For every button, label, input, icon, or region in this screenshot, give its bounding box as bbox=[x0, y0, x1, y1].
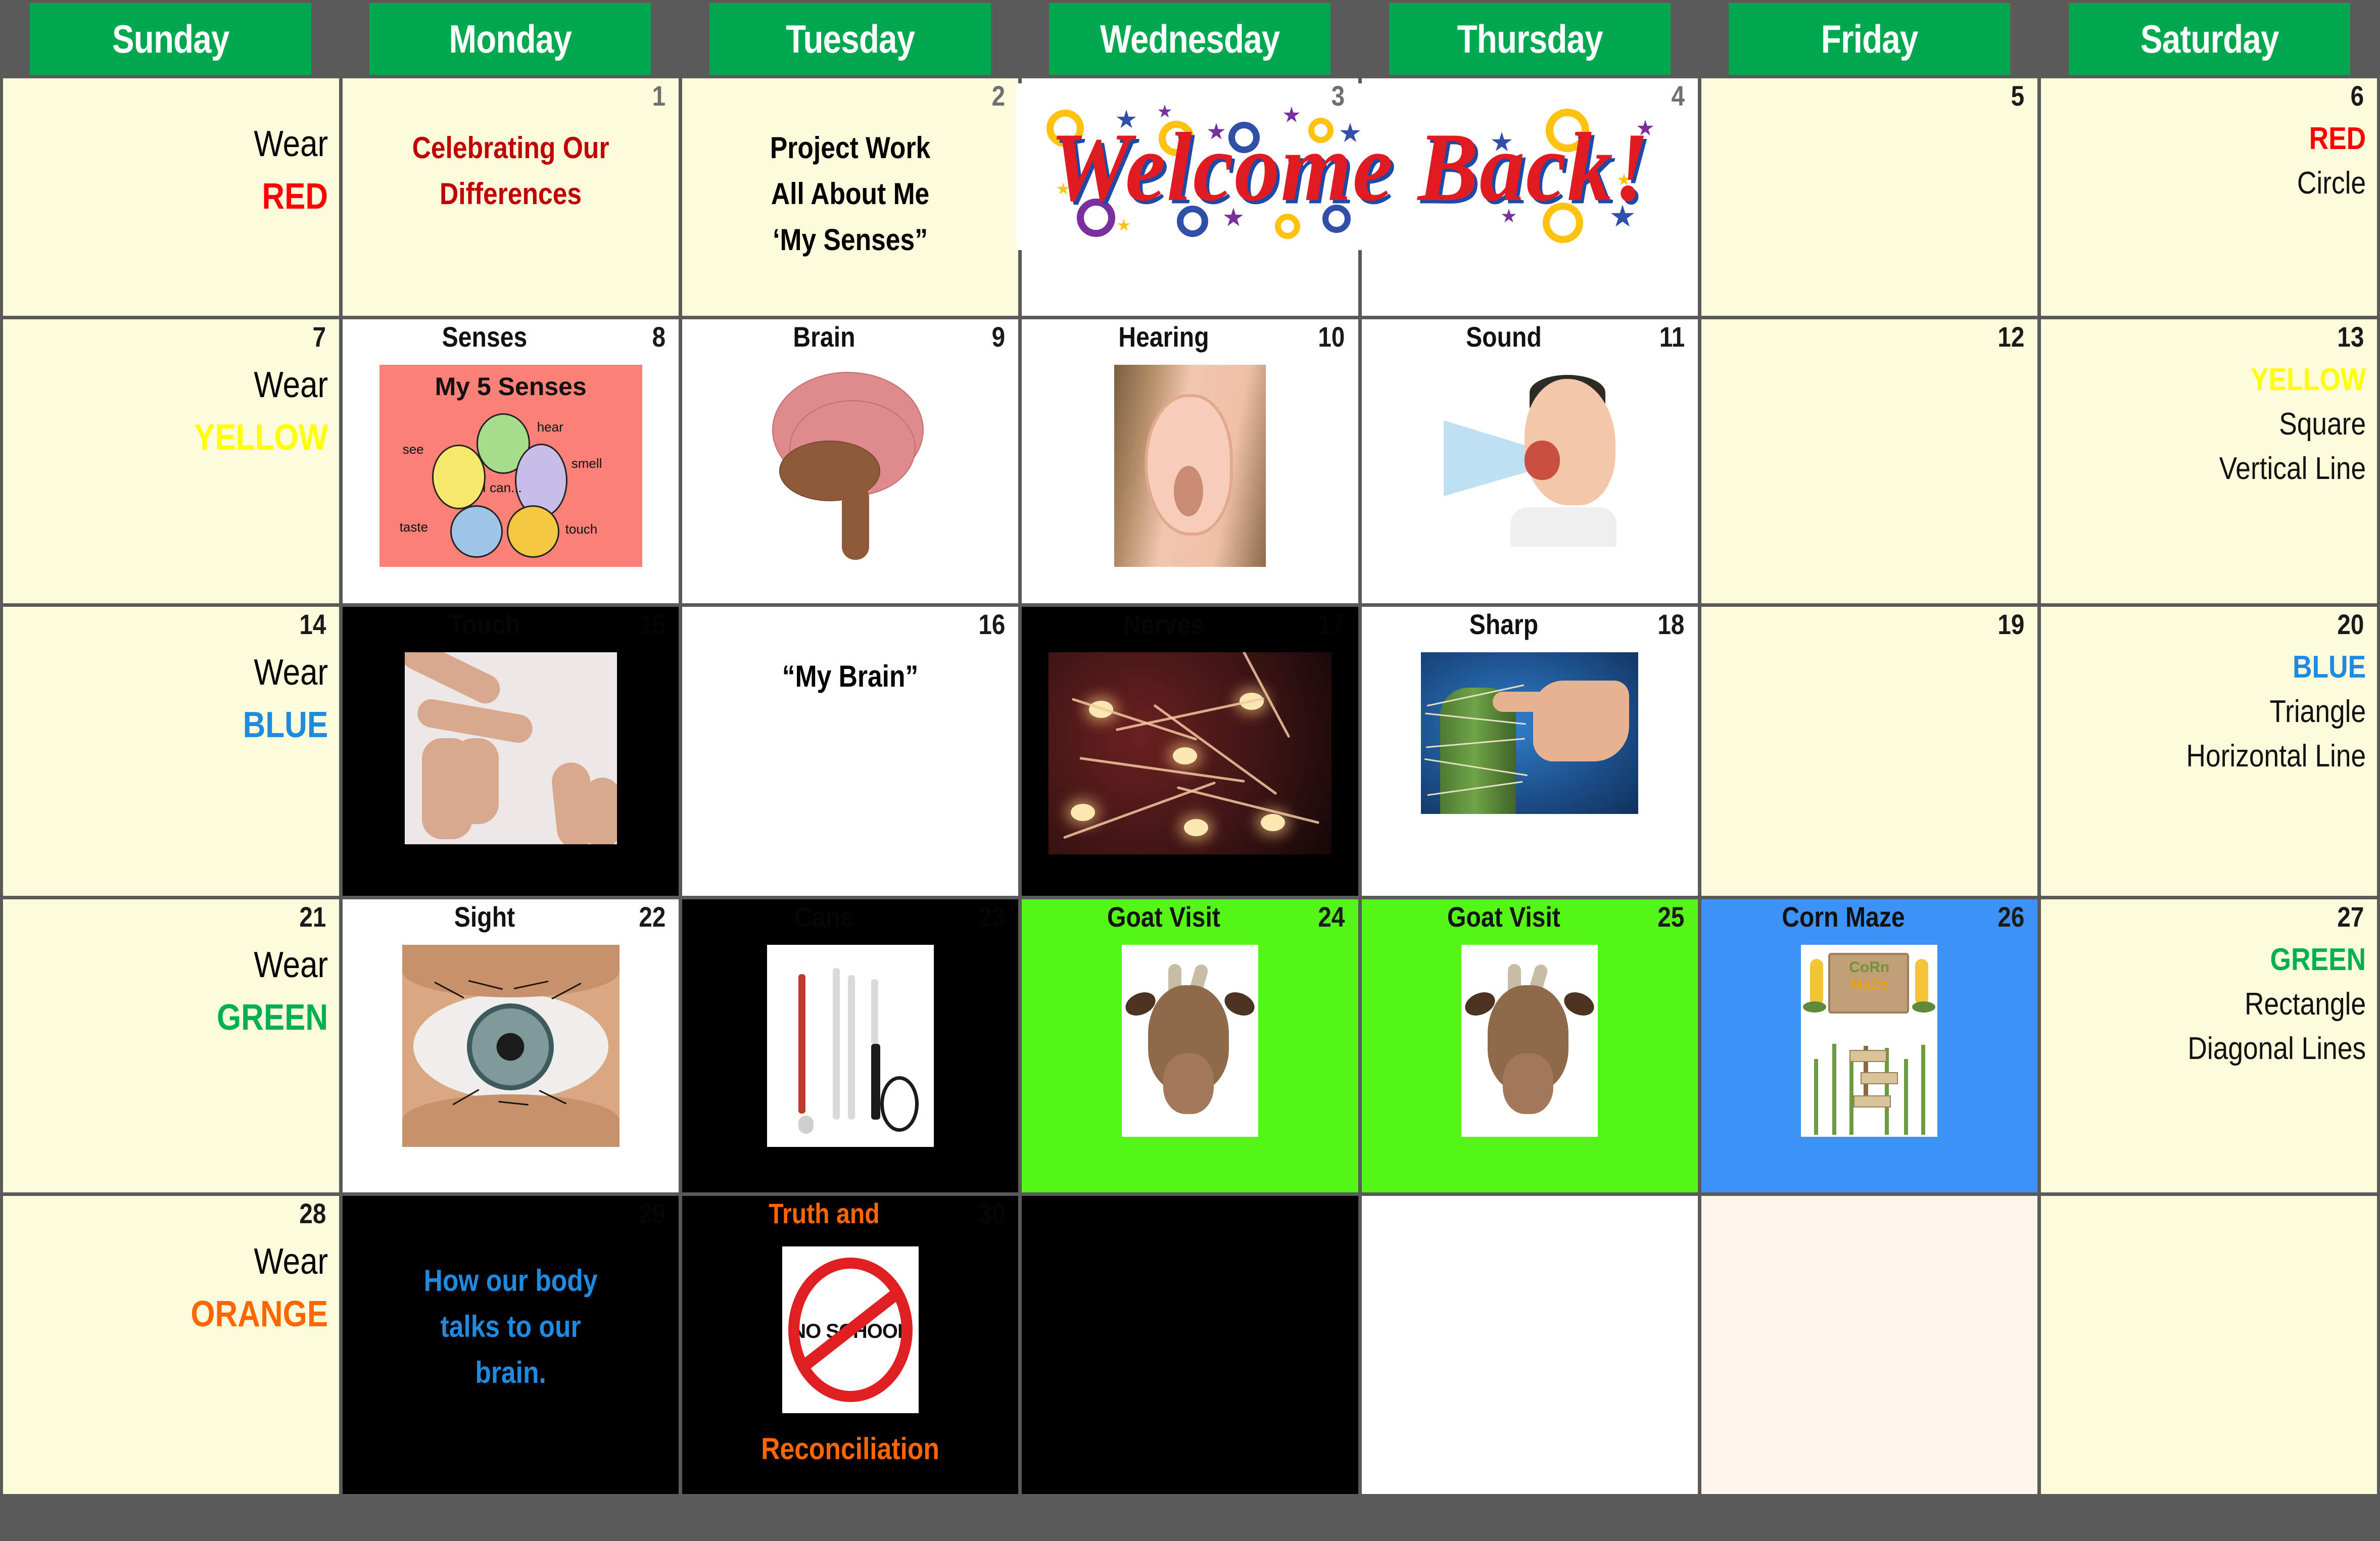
event-line: “My Brain” bbox=[716, 653, 985, 699]
white-cane-image bbox=[767, 945, 934, 1147]
goat-ear bbox=[1560, 988, 1598, 1020]
ear-art bbox=[1114, 365, 1266, 567]
day-number: 4 bbox=[1671, 81, 1684, 111]
senses-poster-heading: My 5 Senses bbox=[379, 372, 642, 401]
week-row-5: 28 Wear ORANGE 29 How our body talks to … bbox=[0, 1196, 2380, 1494]
direction-arrow-icon bbox=[1861, 1072, 1898, 1084]
see-circle-icon bbox=[432, 445, 486, 509]
day-number: 23 bbox=[978, 902, 1005, 932]
day-header-tuesday: Tuesday bbox=[709, 3, 991, 75]
cell-title: Touch bbox=[366, 610, 655, 640]
day-cell-19[interactable]: 19 bbox=[1701, 607, 2037, 896]
brain-art bbox=[767, 365, 934, 567]
day-of-week-header: Sunday Monday Tuesday Wednesday Thursday… bbox=[0, 0, 2380, 75]
corn-stalk bbox=[1921, 1045, 1925, 1135]
day-cell-6[interactable]: 6 RED Circle bbox=[2041, 78, 2377, 316]
corn-stalk bbox=[1832, 1044, 1836, 1135]
day-number: 22 bbox=[639, 902, 665, 932]
hand bbox=[1533, 681, 1629, 761]
corn-stalk bbox=[1814, 1059, 1818, 1135]
cell-title: Sound bbox=[1385, 322, 1674, 352]
brain-stem bbox=[842, 484, 869, 560]
senses-poster-art: My 5 Senses see hear smell I can... tast… bbox=[379, 365, 642, 567]
week-row-4: 21 Wear GREEN Sight 22 bbox=[0, 899, 2380, 1192]
cane-grip bbox=[871, 1044, 880, 1120]
shirt bbox=[1510, 507, 1616, 547]
cane-wrist-strap bbox=[880, 1076, 919, 1132]
day-cell-27[interactable]: 27 GREEN Rectangle Diagonal Lines bbox=[2041, 899, 2377, 1192]
wear-label: Wear bbox=[58, 646, 328, 699]
day-number: 2 bbox=[992, 81, 1005, 111]
white-cane-art bbox=[767, 945, 934, 1147]
wear-color-label: RED bbox=[58, 170, 328, 223]
wear-label: Wear bbox=[58, 1235, 328, 1288]
day-number: 16 bbox=[978, 610, 1005, 640]
day-cell-25[interactable]: Goat Visit 25 bbox=[1362, 899, 1698, 1192]
cell-title: Sight bbox=[366, 902, 655, 932]
neuron-fiber bbox=[1079, 757, 1245, 783]
cell-text: “My Brain” bbox=[716, 653, 985, 699]
day-cell-13[interactable]: 13 YELLOW Square Vertical Line bbox=[2041, 319, 2377, 603]
goat-muzzle bbox=[1163, 1053, 1214, 1114]
day-cell-17[interactable]: Nerves 17 bbox=[1022, 607, 1358, 896]
ear-image bbox=[1114, 365, 1266, 567]
day-cell-26[interactable]: Corn Maze 26 CoRn MaZe bbox=[1701, 899, 2037, 1192]
finger bbox=[453, 738, 499, 824]
hands-touching-art bbox=[405, 652, 617, 844]
corn-maze-art: CoRn MaZe bbox=[1801, 945, 1937, 1137]
day-header-friday: Friday bbox=[1729, 3, 2010, 75]
shape-color-label: RED bbox=[2096, 117, 2366, 161]
sound-wave-icon bbox=[1444, 420, 1533, 496]
day-cell-wear-red[interactable]: Wear RED bbox=[3, 78, 339, 316]
day-cell-24[interactable]: Goat Visit 24 bbox=[1022, 899, 1358, 1192]
shape-name: Horizontal Line bbox=[2096, 734, 2366, 779]
day-number: 25 bbox=[1658, 902, 1685, 932]
day-number: 10 bbox=[1318, 322, 1345, 352]
finger bbox=[585, 778, 617, 844]
day-cell-14[interactable]: 14 Wear BLUE bbox=[3, 607, 339, 896]
no-school-sign-art: NO SCHOOL bbox=[782, 1246, 919, 1413]
pointing-finger bbox=[1493, 692, 1548, 712]
cactus-finger-image bbox=[1421, 652, 1638, 814]
neuron-fiber bbox=[1072, 698, 1198, 741]
day-number: 24 bbox=[1318, 902, 1345, 932]
calendar-grid: Sunday Monday Tuesday Wednesday Thursday… bbox=[0, 0, 2380, 1541]
eye-art bbox=[402, 945, 620, 1147]
cane-segment bbox=[848, 975, 855, 1120]
day-number: 13 bbox=[2337, 322, 2364, 352]
shape-name: Triangle bbox=[2096, 690, 2366, 734]
senses-label-touch: touch bbox=[565, 521, 598, 537]
wear-color-label: ORANGE bbox=[58, 1288, 328, 1340]
day-number: 8 bbox=[652, 322, 665, 352]
day-number: 26 bbox=[1997, 902, 2024, 932]
shape-color-label: BLUE bbox=[2096, 645, 2366, 690]
day-number: 7 bbox=[313, 322, 326, 352]
day-cell-22[interactable]: Sight 22 bbox=[343, 899, 679, 1192]
day-cell-1[interactable]: 1 Celebrating Our Differences bbox=[343, 78, 679, 316]
day-cell-12[interactable]: 12 bbox=[1701, 319, 2037, 603]
goat-art bbox=[1122, 945, 1258, 1137]
neurons-image bbox=[1049, 652, 1331, 854]
day-number: 21 bbox=[299, 902, 326, 932]
day-cell-empty-thu[interactable] bbox=[1362, 1196, 1698, 1494]
day-cell-empty-wed[interactable] bbox=[1022, 1196, 1358, 1494]
day-number: 1 bbox=[652, 81, 665, 111]
cane-segment bbox=[871, 979, 878, 1045]
brain-image bbox=[767, 365, 934, 567]
cell-title: Goat Visit bbox=[1385, 902, 1674, 932]
day-number: 6 bbox=[2351, 81, 2364, 111]
wear-block: Wear ORANGE bbox=[58, 1235, 328, 1341]
corn-maze-sign-line2: MaZe bbox=[1801, 976, 1937, 993]
finger bbox=[405, 652, 505, 708]
goat-muzzle bbox=[1503, 1053, 1553, 1114]
neuron-fiber bbox=[1177, 786, 1320, 824]
event-line: ‘My Senses” bbox=[716, 217, 985, 263]
senses-label-smell: smell bbox=[572, 456, 602, 471]
day-cell-18[interactable]: Sharp 18 bbox=[1362, 607, 1698, 896]
neuron-node bbox=[1184, 819, 1208, 836]
day-cell-7[interactable]: 7 Wear YELLOW bbox=[3, 319, 339, 603]
day-cell-8[interactable]: Senses 8 My 5 Senses see hear smell I ca… bbox=[343, 319, 679, 603]
day-number: 12 bbox=[1997, 322, 2024, 352]
corn-leaf-icon bbox=[1803, 1001, 1826, 1013]
day-number: 5 bbox=[2011, 81, 2024, 111]
corn-stalk bbox=[1849, 1054, 1853, 1135]
senses-label-hear: hear bbox=[537, 419, 563, 435]
senses-label-see: see bbox=[403, 442, 424, 457]
shape-block: RED Circle bbox=[2096, 117, 2366, 206]
cane-segment bbox=[798, 974, 805, 1114]
day-cell-11[interactable]: Sound 11 bbox=[1362, 319, 1698, 603]
day-header-sunday: Sunday bbox=[30, 3, 311, 75]
my-5-senses-image: My 5 Senses see hear smell I can... tast… bbox=[379, 365, 642, 567]
wear-block: Wear BLUE bbox=[58, 646, 328, 752]
day-cell-empty-sat[interactable] bbox=[2041, 1196, 2377, 1494]
wear-color-label: BLUE bbox=[58, 699, 328, 751]
neuron-node bbox=[1261, 814, 1285, 831]
wear-block: Wear YELLOW bbox=[58, 359, 328, 464]
wear-color-label: GREEN bbox=[58, 991, 328, 1044]
event-line: brain. bbox=[376, 1350, 646, 1395]
cell-title: Brain bbox=[706, 322, 995, 352]
goat-ear bbox=[1221, 988, 1258, 1020]
day-cell-30[interactable]: Truth and 30 NO SCHOOL Reconciliation bbox=[682, 1196, 1018, 1494]
shape-name: Vertical Line bbox=[2096, 447, 2366, 491]
cane-segment bbox=[833, 968, 840, 1120]
senses-label-taste: taste bbox=[400, 519, 428, 535]
day-header-monday: Monday bbox=[369, 3, 651, 75]
day-cell-10[interactable]: Hearing 10 bbox=[1022, 319, 1358, 603]
day-number: 19 bbox=[1997, 610, 2024, 640]
direction-arrow-icon bbox=[1853, 1095, 1891, 1107]
cactus-finger-art bbox=[1421, 652, 1638, 814]
cell-title: Truth and bbox=[706, 1199, 995, 1229]
shape-color-label: YELLOW bbox=[2096, 358, 2366, 402]
event-line: talks to our bbox=[376, 1304, 646, 1350]
shape-color-label: GREEN bbox=[2096, 938, 2366, 982]
wear-label: Wear bbox=[58, 939, 328, 991]
weeks-container: Wear RED 1 Celebrating Our Differences 2… bbox=[0, 75, 2380, 1541]
day-header-saturday: Saturday bbox=[2069, 3, 2350, 75]
hands-touching-image bbox=[405, 652, 617, 844]
cell-title: Hearing bbox=[1045, 322, 1335, 352]
corn-stalk bbox=[1904, 1059, 1908, 1135]
neuron-node bbox=[1173, 747, 1197, 764]
cell-title: Sharp bbox=[1385, 610, 1674, 640]
neuron-node bbox=[1071, 804, 1095, 821]
day-cell-16[interactable]: 16 “My Brain” bbox=[682, 607, 1018, 896]
cell-text: Celebrating Our Differences bbox=[376, 125, 646, 217]
wear-color-label: YELLOW bbox=[58, 411, 328, 464]
day-cell-21[interactable]: 21 Wear GREEN bbox=[3, 899, 339, 1192]
day-number: 3 bbox=[1331, 81, 1345, 111]
week-row-2: 7 Wear YELLOW Senses 8 My 5 Senses bbox=[0, 319, 2380, 603]
corn-leaf-icon bbox=[1912, 1001, 1935, 1013]
touch-circle-icon bbox=[507, 505, 559, 558]
corn-maze-sign-line1: CoRn bbox=[1801, 959, 1937, 976]
shape-block: BLUE Triangle Horizontal Line bbox=[2096, 645, 2366, 779]
eye-image bbox=[402, 945, 620, 1147]
shape-name: Diagonal Lines bbox=[2096, 1027, 2366, 1071]
goat-image bbox=[1122, 945, 1258, 1137]
day-number: 15 bbox=[639, 610, 665, 640]
day-number: 9 bbox=[992, 322, 1005, 352]
day-number: 20 bbox=[2337, 610, 2364, 640]
no-school-image: NO SCHOOL bbox=[782, 1246, 919, 1413]
day-cell-empty-fri[interactable] bbox=[1701, 1196, 2037, 1494]
cell-title: Cane bbox=[706, 902, 995, 932]
cell-footer-text: Reconciliation bbox=[716, 1431, 985, 1466]
open-mouth bbox=[1525, 441, 1560, 480]
event-line: Differences bbox=[376, 171, 646, 217]
event-line: How our body bbox=[376, 1258, 646, 1304]
day-header-thursday: Thursday bbox=[1389, 3, 1671, 75]
senses-label-ican: I can... bbox=[483, 480, 522, 496]
cell-title: Corn Maze bbox=[1725, 902, 2014, 932]
boy-shouting-art bbox=[1439, 365, 1621, 547]
week-row-3: 14 Wear BLUE Touch 15 bbox=[0, 607, 2380, 896]
event-line: All About Me bbox=[716, 171, 985, 217]
day-number: 18 bbox=[1658, 610, 1685, 640]
day-number: 28 bbox=[299, 1199, 326, 1229]
day-number: 14 bbox=[299, 610, 326, 640]
sound-image bbox=[1439, 365, 1621, 547]
shape-block: YELLOW Square Vertical Line bbox=[2096, 358, 2366, 491]
shape-name: Circle bbox=[2096, 161, 2366, 206]
cell-text: Project Work All About Me ‘My Senses” bbox=[716, 125, 985, 263]
day-cell-23[interactable]: Cane 23 bbox=[682, 899, 1018, 1192]
day-cell-2[interactable]: 2 Project Work All About Me ‘My Senses” bbox=[682, 78, 1018, 316]
shape-name: Rectangle bbox=[2096, 982, 2366, 1027]
neurons-art bbox=[1049, 652, 1331, 854]
taste-circle-icon bbox=[450, 505, 503, 558]
day-cell-29[interactable]: 29 How our body talks to our brain. bbox=[343, 1196, 679, 1494]
eye-iris bbox=[467, 1003, 554, 1090]
day-header-wednesday: Wednesday bbox=[1049, 3, 1330, 75]
cell-title: Nerves bbox=[1045, 610, 1335, 640]
event-line: Project Work bbox=[716, 125, 985, 171]
day-number: 17 bbox=[1318, 610, 1345, 640]
day-number: 30 bbox=[978, 1199, 1005, 1229]
day-number: 27 bbox=[2337, 902, 2364, 932]
day-cell-15[interactable]: Touch 15 bbox=[343, 607, 679, 896]
goat-art bbox=[1461, 945, 1598, 1137]
upper-eyelid bbox=[402, 945, 620, 997]
cane-tip bbox=[798, 1116, 814, 1134]
day-cell-20[interactable]: 20 BLUE Triangle Horizontal Line bbox=[2041, 607, 2377, 896]
day-cell-28[interactable]: 28 Wear ORANGE bbox=[3, 1196, 339, 1494]
day-cell-4[interactable]: 4 bbox=[1362, 78, 1698, 316]
goat-image bbox=[1461, 945, 1598, 1137]
day-cell-3[interactable]: 3 bbox=[1022, 78, 1358, 316]
wear-block: Wear RED bbox=[58, 118, 328, 223]
corn-maze-image: CoRn MaZe bbox=[1801, 945, 1937, 1137]
cell-text: How our body talks to our brain. bbox=[376, 1258, 646, 1396]
week-row-1: Wear RED 1 Celebrating Our Differences 2… bbox=[0, 78, 2380, 316]
shape-name: Square bbox=[2096, 402, 2366, 447]
direction-arrow-icon bbox=[1849, 1050, 1887, 1062]
neuron-fiber bbox=[1116, 697, 1264, 731]
cell-title: Goat Visit bbox=[1045, 902, 1335, 932]
day-cell-9[interactable]: Brain 9 bbox=[682, 319, 1018, 603]
day-number: 29 bbox=[639, 1199, 665, 1229]
wear-label: Wear bbox=[58, 359, 328, 411]
ear-canal bbox=[1174, 466, 1203, 516]
cell-title: Senses bbox=[366, 322, 655, 352]
neuron-fiber bbox=[1153, 704, 1277, 795]
wear-block: Wear GREEN bbox=[58, 939, 328, 1044]
day-cell-5[interactable]: 5 bbox=[1701, 78, 2037, 316]
wear-label: Wear bbox=[58, 118, 328, 170]
day-number: 11 bbox=[1659, 322, 1684, 352]
event-line: Celebrating Our bbox=[376, 125, 646, 171]
shape-block: GREEN Rectangle Diagonal Lines bbox=[2096, 938, 2366, 1071]
